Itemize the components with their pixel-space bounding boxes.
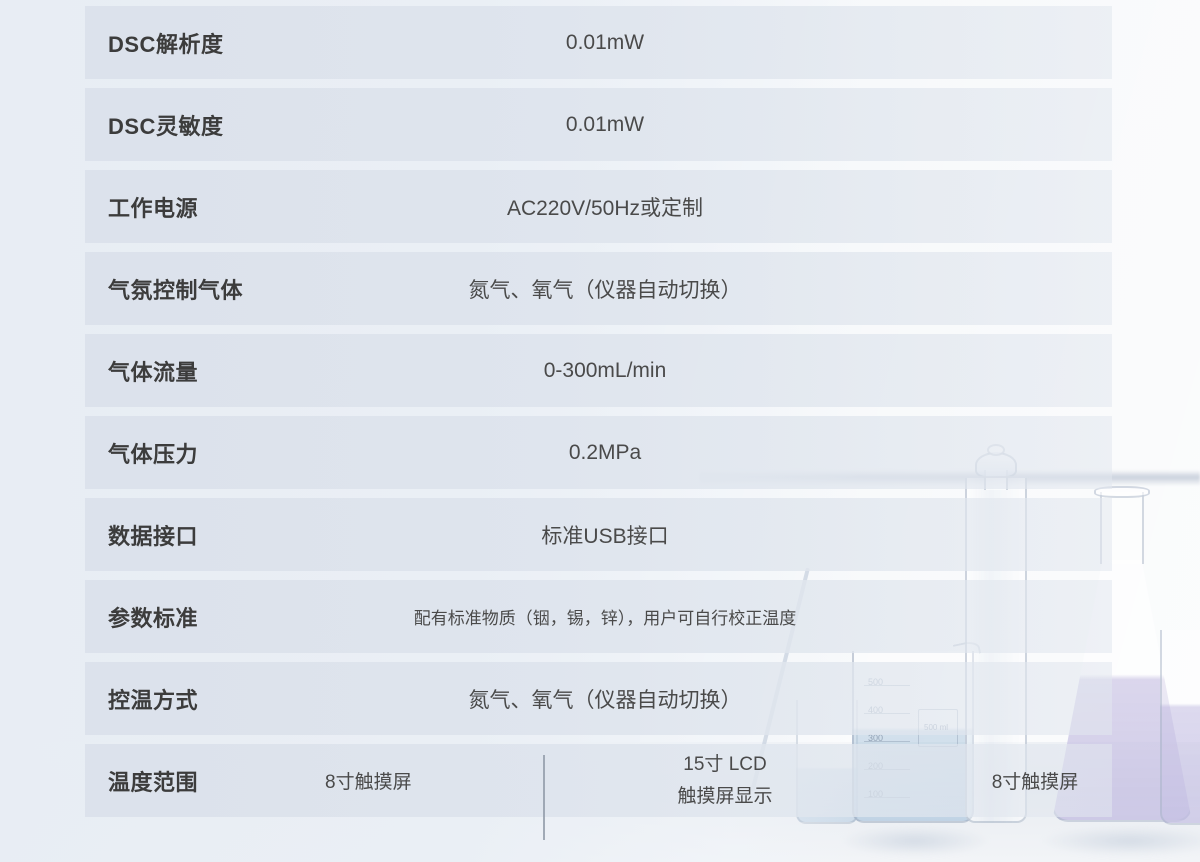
table-row: 参数标准 配有标准物质（铟，锡，锌），用户可自行校正温度 (85, 580, 1112, 653)
spec-label: 温度范围 (108, 765, 198, 797)
spec-value: 标准USB接口 (355, 520, 855, 550)
lcd-line-2: 触摸屏显示 (677, 786, 772, 807)
spec-label: DSC灵敏度 (108, 109, 223, 141)
table-row-temperature-range: 温度范围 8寸触摸屏 15寸 LCD 触摸屏显示 8寸触摸屏 (85, 744, 1112, 817)
spec-label: 数据接口 (108, 519, 198, 551)
spec-label: 参数标准 (108, 601, 198, 633)
spec-label: 工作电源 (108, 191, 198, 223)
table-row: 气体压力 0.2MPa (85, 416, 1112, 489)
spec-label: 气体流量 (108, 355, 198, 387)
spec-value: 氮气、氧气（仪器自动切换） (355, 684, 855, 714)
bench-reflection-left (840, 826, 990, 856)
spec-value: 0.01mW (355, 113, 855, 137)
spec-value: 0.2MPa (355, 441, 855, 465)
lcd-line-1: 15寸 LCD (683, 754, 766, 775)
touchscreen-left-value: 8寸触摸屏 (325, 767, 412, 794)
spec-value: AC220V/50Hz或定制 (355, 192, 855, 222)
table-row: 工作电源 AC220V/50Hz或定制 (85, 170, 1112, 243)
bench-reflection-right (1040, 826, 1200, 856)
spec-label: 控温方式 (108, 683, 198, 715)
spec-label: 气体压力 (108, 437, 198, 469)
spec-value: 0-300mL/min (355, 359, 855, 383)
table-row: 控温方式 氮气、氧气（仪器自动切换） (85, 662, 1112, 735)
spec-value: 0.01mW (355, 31, 855, 55)
lcd-display-value: 15寸 LCD 触摸屏显示 (625, 749, 825, 812)
table-row: 气体流量 0-300mL/min (85, 334, 1112, 407)
spec-label: 气氛控制气体 (108, 273, 243, 305)
spec-value: 氮气、氧气（仪器自动切换） (355, 274, 855, 304)
vertical-divider (543, 755, 545, 840)
table-row: 气氛控制气体 氮气、氧气（仪器自动切换） (85, 252, 1112, 325)
touchscreen-right-value: 8寸触摸屏 (940, 767, 1130, 794)
table-row: DSC解析度 0.01mW (85, 6, 1112, 79)
spec-value: 配有标准物质（铟，锡，锌），用户可自行校正温度 (355, 604, 855, 629)
specification-table: DSC解析度 0.01mW DSC灵敏度 0.01mW 工作电源 AC220V/… (85, 6, 1112, 817)
spec-label: DSC解析度 (108, 27, 223, 59)
table-row: DSC灵敏度 0.01mW (85, 88, 1112, 161)
table-row: 数据接口 标准USB接口 (85, 498, 1112, 571)
